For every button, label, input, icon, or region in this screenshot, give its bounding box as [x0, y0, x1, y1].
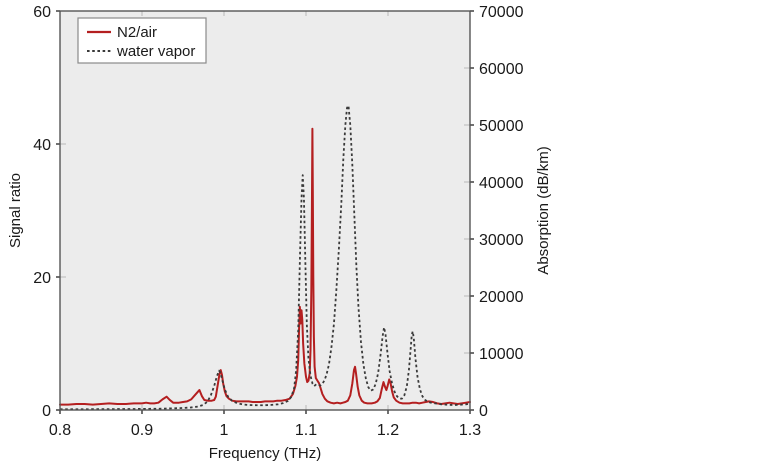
y-tick-label-right: 0	[479, 403, 488, 420]
y-tick-label-left: 20	[33, 270, 51, 287]
y-axis-title-right: Absorption (dB/km)	[535, 146, 552, 274]
x-tick-label: 1	[220, 422, 229, 439]
x-tick-label: 1.2	[377, 422, 399, 439]
chart-legend[interactable]: N2/airwater vapor	[78, 18, 206, 63]
y-tick-label-right: 20000	[479, 289, 524, 306]
y-tick-label-left: 60	[33, 4, 51, 21]
y-tick-label-right: 70000	[479, 4, 524, 21]
y-tick-label-right: 10000	[479, 346, 524, 363]
y-tick-label-left: 0	[42, 403, 51, 420]
y-tick-label-right: 50000	[479, 118, 524, 135]
y-tick-label-left: 40	[33, 137, 51, 154]
absorption-spectrum-chart: 0.80.911.11.21.3020406001000020000300004…	[0, 0, 768, 461]
y-tick-label-right: 40000	[479, 175, 524, 192]
x-tick-label: 0.8	[49, 422, 71, 439]
y-axis-title-left: Signal ratio	[7, 173, 24, 248]
x-tick-label: 1.1	[295, 422, 317, 439]
plot-background	[60, 11, 470, 410]
legend-label[interactable]: N2/air	[117, 24, 157, 41]
y-tick-label-right: 30000	[479, 232, 524, 249]
y-tick-label-right: 60000	[479, 61, 524, 78]
legend-label[interactable]: water vapor	[116, 43, 195, 60]
plot-area-background	[60, 11, 470, 410]
chart-figure: 0.80.911.11.21.3020406001000020000300004…	[0, 0, 768, 461]
x-tick-label: 1.3	[459, 422, 481, 439]
x-axis-title: Frequency (THz)	[209, 445, 322, 461]
x-tick-label: 0.9	[131, 422, 153, 439]
